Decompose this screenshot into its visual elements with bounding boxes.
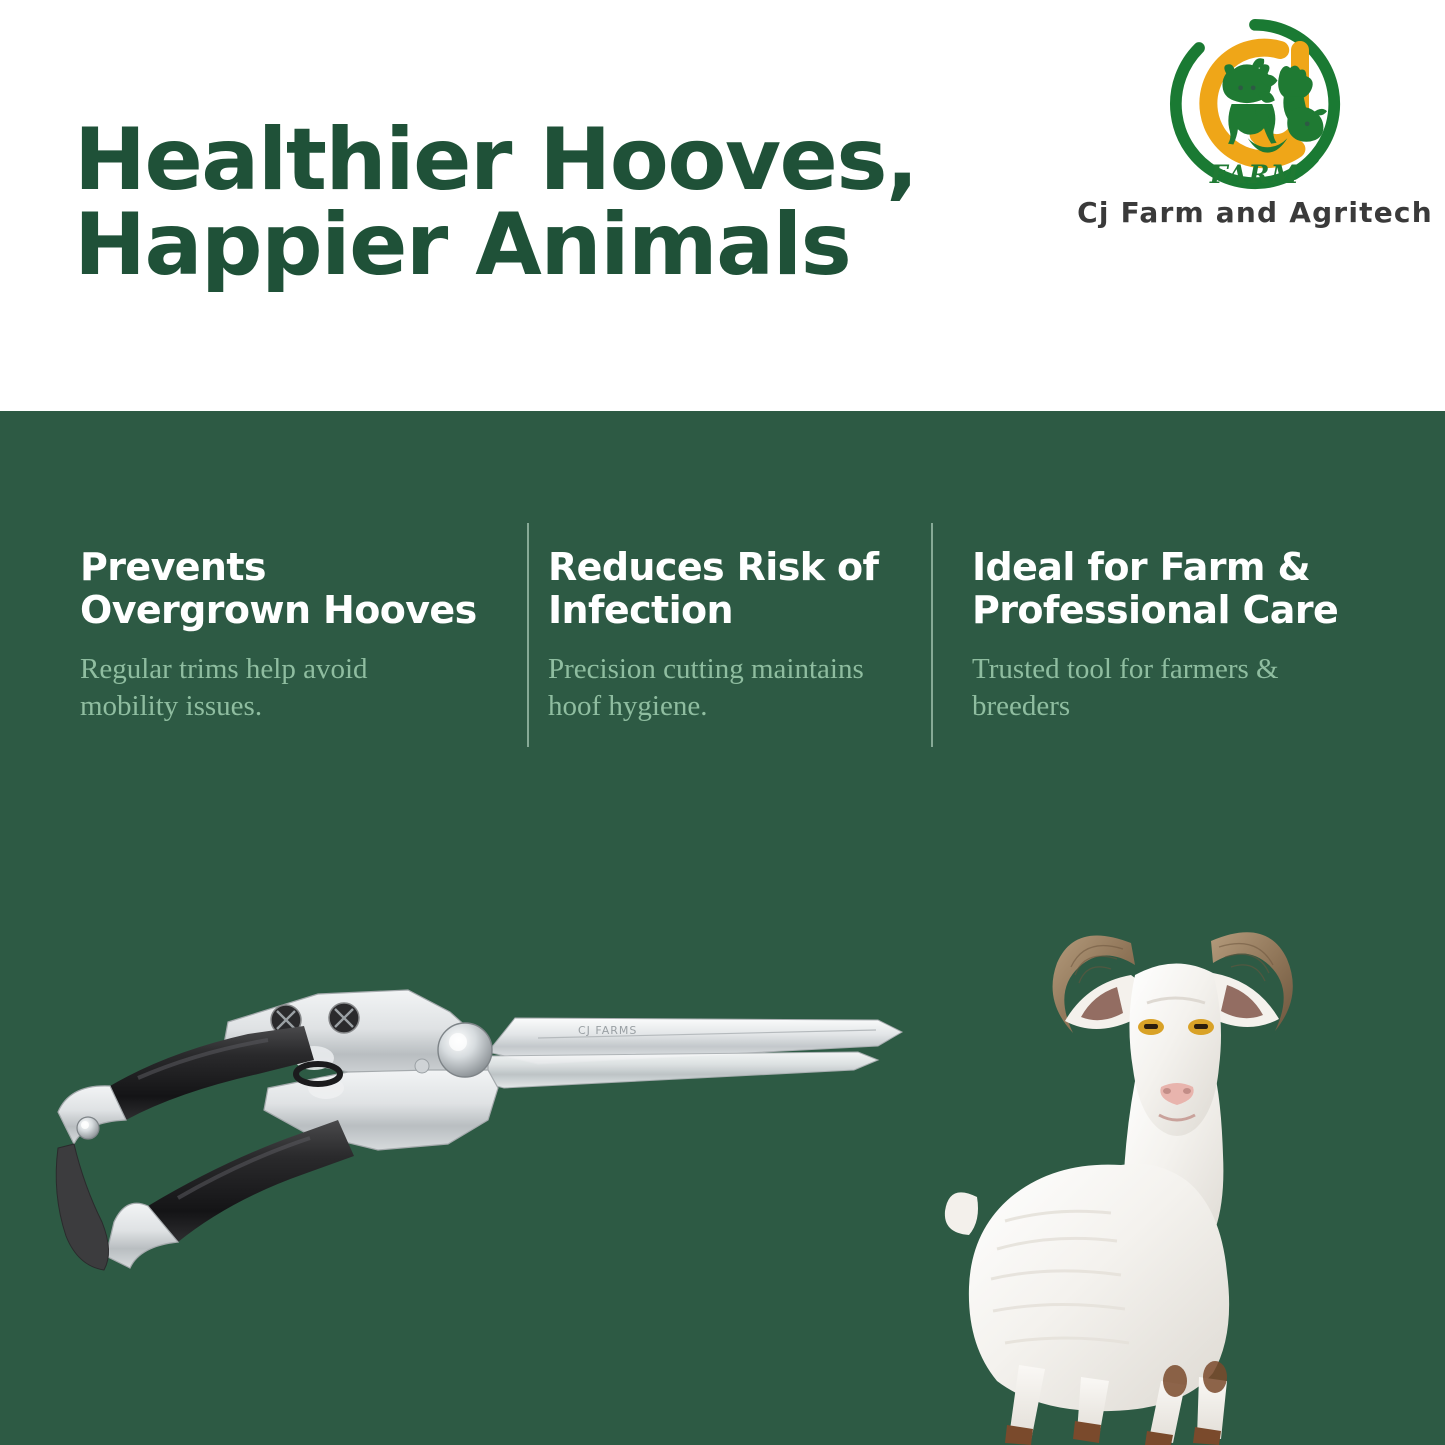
feature-column-1: Prevents Overgrown Hooves Regular trims … [80, 546, 510, 725]
trimmer-blade-lower [458, 1052, 878, 1088]
trimmer-screw-2 [329, 1003, 359, 1033]
brand-name: Cj Farm and Agritech [1077, 196, 1433, 229]
trimmer-pivot-ring [296, 1064, 340, 1084]
feature-column-3: Ideal for Farm & Professional Care Trust… [972, 546, 1372, 725]
hoof-trimmer-image: CJ FARMS [18, 960, 918, 1280]
trimmer-latch-hook [56, 1144, 108, 1270]
column-divider-1 [527, 523, 529, 747]
goat-image [935, 825, 1415, 1445]
goat-body [969, 1164, 1229, 1411]
goat-eye-left [1138, 1019, 1164, 1035]
column-divider-2 [931, 523, 933, 747]
white-goat-icon [935, 825, 1415, 1445]
goat-knee-patch-near [1203, 1361, 1227, 1393]
header-band: Healthier Hooves, Happier Animals [0, 0, 1445, 411]
blade-engraving-text: CJ FARMS [578, 1024, 637, 1037]
logo-farm-text: FARM [1209, 159, 1300, 189]
feature-title-2: Reduces Risk of Infection [548, 546, 918, 631]
brand-logo-block: FARM Cj Farm and Agritech [1095, 14, 1415, 229]
feature-title-1: Prevents Overgrown Hooves [80, 546, 510, 631]
feature-body-1: Regular trims help avoid mobility issues… [80, 651, 510, 725]
goat-knee-patch-far [1163, 1365, 1187, 1397]
feature-body-2: Precision cutting maintains hoof hygiene… [548, 651, 918, 725]
page-title: Healthier Hooves, Happier Animals [74, 118, 1094, 288]
trimmer-grip-lower [144, 1120, 354, 1242]
feature-body-3: Trusted tool for farmers & breeders [972, 651, 1372, 725]
trimmer-pivot-bolt [438, 1023, 492, 1077]
feature-column-2: Reduces Risk of Infection Precision cutt… [548, 546, 918, 725]
poster-canvas: Healthier Hooves, Happier Animals [0, 0, 1445, 1445]
hoof-trimmer-shears-icon: CJ FARMS [18, 960, 918, 1290]
goat-tail [945, 1192, 978, 1235]
cj-farm-circular-logo-icon: FARM [1165, 14, 1345, 194]
trimmer-latch-rivet [77, 1117, 99, 1139]
goat-eye-right [1188, 1019, 1214, 1035]
product-imagery-stage: CJ FARMS [0, 780, 1445, 1445]
feature-title-3: Ideal for Farm & Professional Care [972, 546, 1372, 631]
